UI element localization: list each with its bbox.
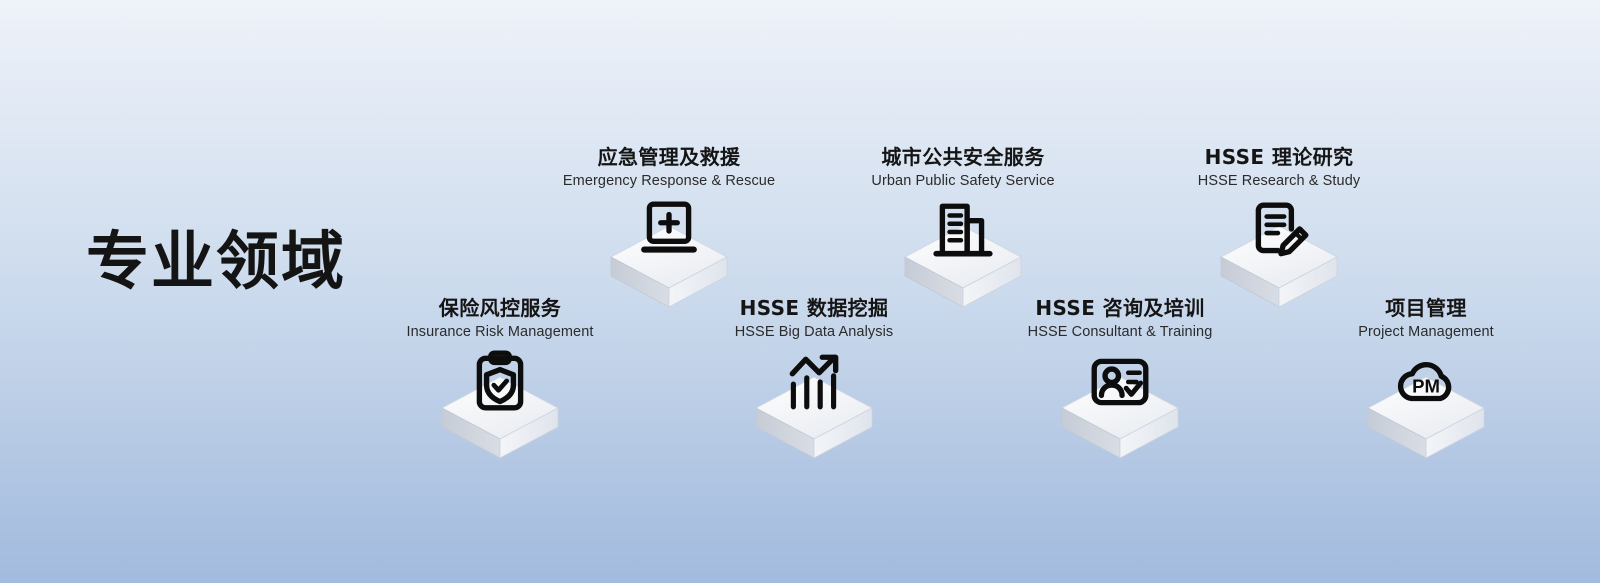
pillar-artwork xyxy=(350,349,650,461)
document-pencil-icon xyxy=(1246,198,1312,264)
pillar-title-cn: 城市公共安全服务 xyxy=(813,145,1113,169)
pillar-artwork xyxy=(664,349,964,461)
pillar-title-en: Insurance Risk Management xyxy=(350,324,650,341)
clipboard-shield-check-icon xyxy=(467,349,533,415)
pillar-artwork: PM xyxy=(1276,349,1576,461)
pillar-hsse-research-study[interactable]: HSSE 理论研究HSSE Research & Study xyxy=(1129,145,1429,310)
pillar-title-en: HSSE Consultant & Training xyxy=(970,324,1270,341)
pillar-artwork xyxy=(970,349,1270,461)
pillar-hsse-big-data-analysis[interactable]: HSSE 数据挖掘HSSE Big Data Analysis xyxy=(664,296,964,461)
pillar-project-management[interactable]: 项目管理Project ManagementPM xyxy=(1276,296,1576,461)
pillar-hsse-consultant-training[interactable]: HSSE 咨询及培训HSSE Consultant & Training xyxy=(970,296,1270,461)
city-buildings-icon xyxy=(930,198,996,264)
pillar-title-en: Urban Public Safety Service xyxy=(813,173,1113,190)
pillar-emergency-response-rescue[interactable]: 应急管理及救援Emergency Response & Rescue xyxy=(519,145,819,310)
first-aid-cross-icon xyxy=(636,198,702,264)
pillar-title-en: Project Management xyxy=(1276,324,1576,341)
page-title: 专业领域 xyxy=(86,228,346,296)
pillar-title-cn: 应急管理及救援 xyxy=(519,145,819,169)
pillar-title-en: HSSE Big Data Analysis xyxy=(664,324,964,341)
pillar-urban-public-safety-service[interactable]: 城市公共安全服务Urban Public Safety Service xyxy=(813,145,1113,310)
professional-domains-banner: 专业领域 保险风控服务Insurance Risk Management应急管理… xyxy=(0,0,1600,583)
id-card-person-check-icon xyxy=(1087,349,1153,415)
pillar-artwork xyxy=(1129,198,1429,310)
pillar-title-en: Emergency Response & Rescue xyxy=(519,173,819,190)
pillar-insurance-risk-management[interactable]: 保险风控服务Insurance Risk Management xyxy=(350,296,650,461)
bar-chart-trend-icon xyxy=(781,349,847,415)
pillar-title-cn: HSSE 理论研究 xyxy=(1129,145,1429,169)
pillar-title-cn: 项目管理 xyxy=(1276,296,1576,320)
cloud-pm-label: PM xyxy=(1412,376,1440,397)
pillar-artwork xyxy=(519,198,819,310)
cloud-pm-icon: PM xyxy=(1393,349,1459,415)
pillar-title-en: HSSE Research & Study xyxy=(1129,173,1429,190)
pillar-artwork xyxy=(813,198,1113,310)
